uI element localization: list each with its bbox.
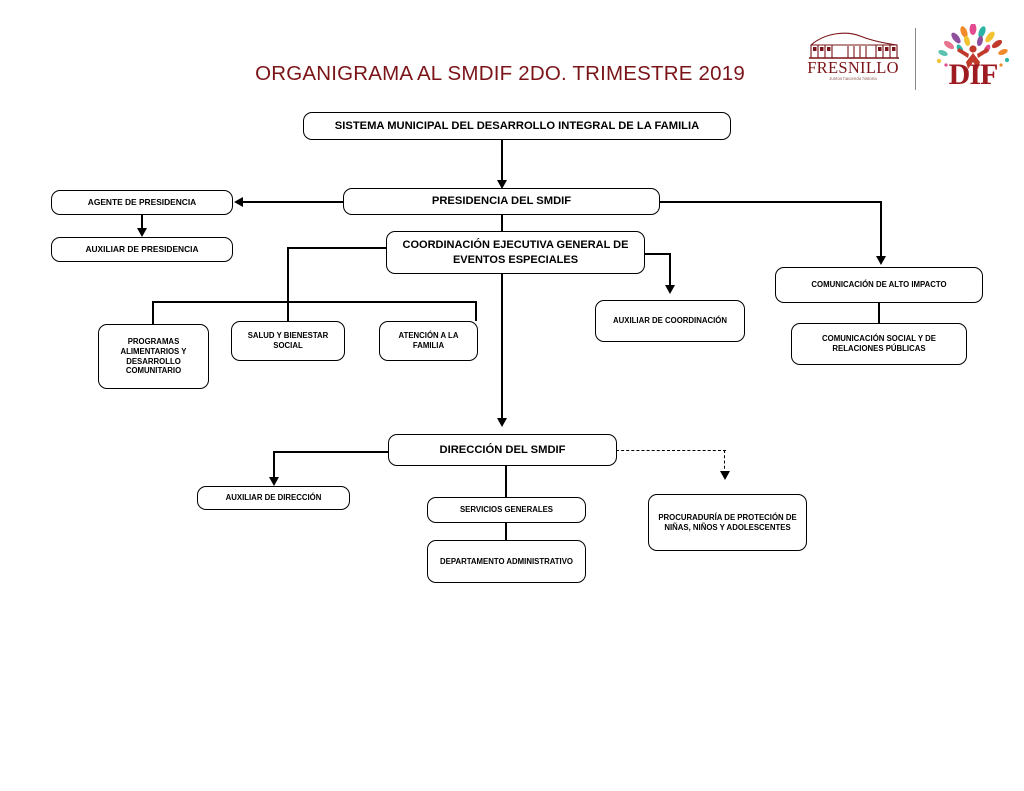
arrowhead-direccion-to-procuraduria (720, 471, 730, 480)
node-comunicacion-alto-impacto[interactable]: COMUNICACIÓN DE ALTO IMPACTO (775, 267, 983, 303)
dif-logo: DIF (930, 24, 1016, 96)
connector-direccion-to-auxdir-v (273, 451, 275, 480)
organigrama-canvas: ORGANIGRAMA AL SMDIF 2DO. TRIMESTRE 2019 (0, 0, 1024, 791)
fresnillo-tagline: Juntos haciendo historia (800, 76, 906, 81)
node-sistema-municipal[interactable]: SISTEMA MUNICIPAL DEL DESARROLLO INTEGRA… (303, 112, 731, 140)
node-presidencia[interactable]: PRESIDENCIA DEL SMDIF (343, 188, 660, 215)
node-procuraduria[interactable]: PROCURADURÍA DE PROTECIÓN DE NIÑAS, NIÑO… (648, 494, 807, 551)
connector-coordinacion-to-auxcoord-v (669, 253, 671, 288)
connector-direccion-to-procuraduria-h (616, 450, 726, 451)
node-coordinacion-ejecutiva[interactable]: COORDINACIÓN EJECUTIVA GENERAL DE EVENTO… (386, 231, 645, 274)
arrowhead-presidencia-to-agente (234, 197, 243, 207)
connector-coordinacion-to-auxcoord-h (645, 253, 671, 255)
node-comunicacion-social[interactable]: COMUNICACIÓN SOCIAL Y DE RELACIONES PÚBL… (791, 323, 967, 365)
connector-presidencia-to-agente (240, 201, 344, 203)
arrowhead-coordinacion-to-auxcoord (665, 285, 675, 294)
connector-coordinacion-left-out (287, 247, 386, 249)
connector-coordinacion-to-direccion (501, 274, 503, 421)
node-direccion-smdif[interactable]: DIRECCIÓN DEL SMDIF (388, 434, 617, 466)
node-agente-presidencia[interactable]: AGENTE DE PRESIDENCIA (51, 190, 233, 215)
connector-servicios-to-departamento (505, 523, 507, 541)
arrowhead-presidencia-to-comunicacion (876, 256, 886, 265)
arrowhead-agente-to-auxiliar (137, 228, 147, 237)
connector-coordinacion-left-drop (287, 247, 289, 303)
dif-wordmark: DIF (930, 60, 1016, 90)
connector-direccion-to-auxdir-h (273, 451, 389, 453)
node-programas-alimentarios[interactable]: PROGRAMAS ALIMENTARIOS Y DESARROLLO COMU… (98, 324, 209, 389)
fresnillo-building-icon (808, 30, 900, 60)
arrowhead-coordinacion-to-direccion (497, 418, 507, 427)
connector-presidencia-to-comunicacion-v (880, 201, 882, 259)
connector-presidencia-to-comunicacion-h (660, 201, 882, 203)
node-servicios-generales[interactable]: SERVICIOS GENERALES (427, 497, 586, 523)
connector-direccion-to-servicios (505, 466, 507, 498)
node-salud-bienestar[interactable]: SALUD Y BIENESTAR SOCIAL (231, 321, 345, 361)
connector-sistema-to-presidencia (501, 140, 503, 182)
node-auxiliar-presidencia[interactable]: AUXILIAR DE PRESIDENCIA (51, 237, 233, 262)
fresnillo-wordmark: FRESNILLO (800, 58, 906, 78)
connector-bus-to-salud (287, 301, 289, 321)
connector-comunicacion-alto-to-social (878, 303, 880, 323)
logo-divider (915, 28, 916, 90)
node-departamento-administrativo[interactable]: DEPARTAMENTO ADMINISTRATIVO (427, 540, 586, 583)
connector-bus-to-atencion (475, 301, 477, 321)
node-auxiliar-direccion[interactable]: AUXILIAR DE DIRECCIÓN (197, 486, 350, 510)
logo-group: FRESNILLO Juntos haciendo historia (800, 22, 1016, 96)
connector-presidencia-to-coordinacion (501, 215, 503, 231)
arrowhead-direccion-to-auxdir (269, 477, 279, 486)
fresnillo-logo: FRESNILLO Juntos haciendo historia (800, 30, 906, 88)
node-auxiliar-coordinacion[interactable]: AUXILIAR DE COORDINACIÓN (595, 300, 745, 342)
connector-areas-bus (152, 301, 477, 303)
node-atencion-familia[interactable]: ATENCIÓN A LA FAMILIA (379, 321, 478, 361)
connector-bus-to-programas (152, 301, 154, 324)
